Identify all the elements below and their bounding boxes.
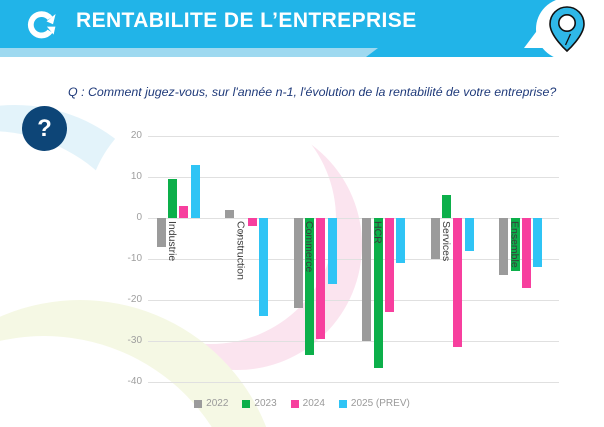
- legend-label: 2022: [206, 398, 228, 409]
- bar-hcr-2025: [396, 218, 405, 263]
- category-label-services: Services: [440, 221, 452, 261]
- bar-ensemble-2022: [499, 218, 508, 275]
- y-axis-tick-label: -40: [104, 376, 142, 387]
- page-header: RENTABILITE DE L’ENTREPRISE: [0, 0, 604, 56]
- data-label: -2: [236, 230, 243, 239]
- category-label-ensemble: Ensemble: [508, 221, 520, 268]
- bar-commerce-2024: [316, 218, 325, 339]
- slide-root: RENTABILITE DE L’ENTREPRISE ? Q : Commen…: [0, 0, 604, 427]
- category-label-hcr: HCR: [371, 221, 383, 244]
- header-strip-light: [0, 48, 380, 57]
- legend-item[interactable]: 2022: [194, 398, 228, 409]
- category-label-commerce: Commerce: [303, 221, 315, 272]
- chart-legend: 2022202320242025 (PREV): [0, 398, 604, 409]
- bar-services-2022: [431, 218, 440, 259]
- legend-label: 2024: [303, 398, 325, 409]
- cci-logo-icon: [22, 8, 60, 42]
- bar-commerce-2025: [328, 218, 337, 284]
- legend-item[interactable]: 2025 (PREV): [339, 398, 410, 409]
- category-label-industrie: Industrie: [166, 221, 178, 261]
- question-badge: ?: [22, 106, 67, 151]
- y-axis-tick-label: 10: [104, 171, 142, 182]
- bar-industrie-2023: [168, 179, 177, 218]
- bar-ensemble-2025: [533, 218, 542, 267]
- bar-services-2025: [465, 218, 474, 251]
- bar-construction-2025: [259, 218, 268, 316]
- legend-swatch-icon: [242, 400, 250, 408]
- location-pin-icon: [536, 0, 598, 60]
- bar-construction-2024: [248, 218, 257, 226]
- y-axis-tick-label: -20: [104, 294, 142, 305]
- legend-swatch-icon: [194, 400, 202, 408]
- legend-item[interactable]: 2023: [242, 398, 276, 409]
- bar-commerce-2022: [294, 218, 303, 308]
- bar-hcr-2022: [362, 218, 371, 341]
- bar-services-2023: [442, 195, 451, 218]
- y-axis-tick-label: 0: [104, 212, 142, 223]
- bar-hcr-2024: [385, 218, 394, 312]
- page-title: RENTABILITE DE L’ENTREPRISE: [76, 9, 417, 33]
- bar-chart: 20100-10-20-30-40 IndustrieConstructionC…: [0, 0, 604, 427]
- bar-services-2024: [453, 218, 462, 347]
- y-axis-tick-label: -10: [104, 253, 142, 264]
- bar-industrie-2022: [157, 218, 166, 247]
- bar-ensemble-2024: [522, 218, 531, 288]
- bar-industrie-2025: [191, 165, 200, 218]
- legend-label: 2023: [254, 398, 276, 409]
- question-text: Q : Comment jugez-vous, sur l'année n-1,…: [68, 85, 556, 99]
- legend-item[interactable]: 2024: [291, 398, 325, 409]
- y-axis-tick-label: 20: [104, 130, 142, 141]
- bar-industrie-2024: [179, 206, 188, 218]
- legend-swatch-icon: [291, 400, 299, 408]
- bar-construction-2022: [225, 210, 234, 218]
- chart-plot-area: [148, 136, 559, 382]
- gridline: [148, 382, 559, 383]
- y-axis-tick-label: -30: [104, 335, 142, 346]
- legend-swatch-icon: [339, 400, 347, 408]
- legend-label: 2025 (PREV): [351, 398, 410, 409]
